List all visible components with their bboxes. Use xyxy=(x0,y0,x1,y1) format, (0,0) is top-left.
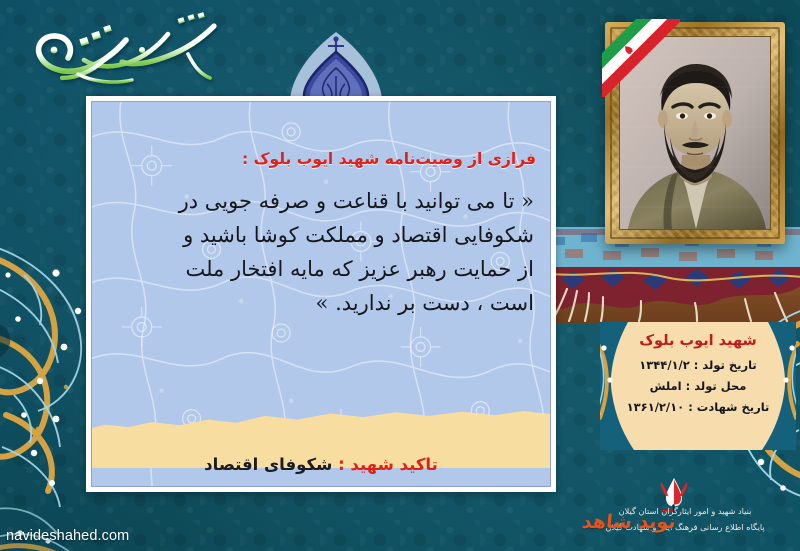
quote-line: شکوفایی اقتصاد و مملکت کوشا باشید و xyxy=(108,218,534,252)
martyr-info-content: شهید ایوب بلوک تاریخ تولد : ۱۳۴۴/۱/۲ محل… xyxy=(600,322,796,450)
martyr-portrait-photo xyxy=(619,36,771,230)
portrait-group xyxy=(595,22,795,332)
footer-brand-name[interactable]: نوید شاهد xyxy=(581,511,677,533)
info-label-birth-date: تاریخ تولد : xyxy=(694,358,757,372)
info-label-birth-place: محل تولد : xyxy=(686,379,747,393)
will-content-panel: فرازی از وصیت‌نامه شهید ایوب بلوک : « تا… xyxy=(86,96,556,492)
poster-root: فرازی از وصیت‌نامه شهید ایوب بلوک : « تا… xyxy=(0,0,800,551)
site-calligraphy-logo xyxy=(18,10,228,95)
info-value-birth-date: ۱۳۴۴/۱/۲ xyxy=(639,358,690,372)
info-row-birth-date: تاریخ تولد : ۱۳۴۴/۱/۲ xyxy=(639,358,757,372)
info-value-martyrdom-date: ۱۳۶۱/۲/۱۰ xyxy=(627,400,685,414)
will-quote-block: « تا می توانید با قناعت و صرفه جویی در ش… xyxy=(108,184,534,320)
will-title: فرازی از وصیت‌نامه شهید ایوب بلوک : xyxy=(242,150,536,168)
portrait-frame xyxy=(605,22,785,244)
emphasis-value: شکوفای اقتصاد xyxy=(204,455,332,474)
info-row-birth-place: محل تولد : املش xyxy=(650,379,747,393)
info-row-martyrdom-date: تاریخ شهادت : ۱۳۶۱/۲/۱۰ xyxy=(627,400,770,414)
emphasis-label: تاکید شهید : xyxy=(338,455,438,474)
quote-line: از حمایت رهبر عزیز که مایه افتخار ملت xyxy=(108,252,534,286)
info-value-birth-place: املش xyxy=(650,379,682,393)
quote-line: « تا می توانید با قناعت و صرفه جویی در xyxy=(108,184,534,218)
panel-content-layer: فرازی از وصیت‌نامه شهید ایوب بلوک : « تا… xyxy=(92,102,550,486)
will-panel-inner: فرازی از وصیت‌نامه شهید ایوب بلوک : « تا… xyxy=(91,101,551,487)
site-watermark: navideshahed.com xyxy=(6,528,129,544)
emphasis-text: تاکید شهید : شکوفای اقتصاد xyxy=(92,455,550,474)
footer-logo-group[interactable]: بنیاد شهید و امور ایثارگران استان گیلان … xyxy=(576,478,794,544)
martyr-info-card: شهید ایوب بلوک تاریخ تولد : ۱۳۴۴/۱/۲ محل… xyxy=(600,322,796,450)
martyr-name: شهید ایوب بلوک xyxy=(639,333,757,349)
quote-line: است ، دست بر ندارید. » xyxy=(108,286,534,320)
info-label-martyrdom-date: تاریخ شهادت : xyxy=(688,400,769,414)
